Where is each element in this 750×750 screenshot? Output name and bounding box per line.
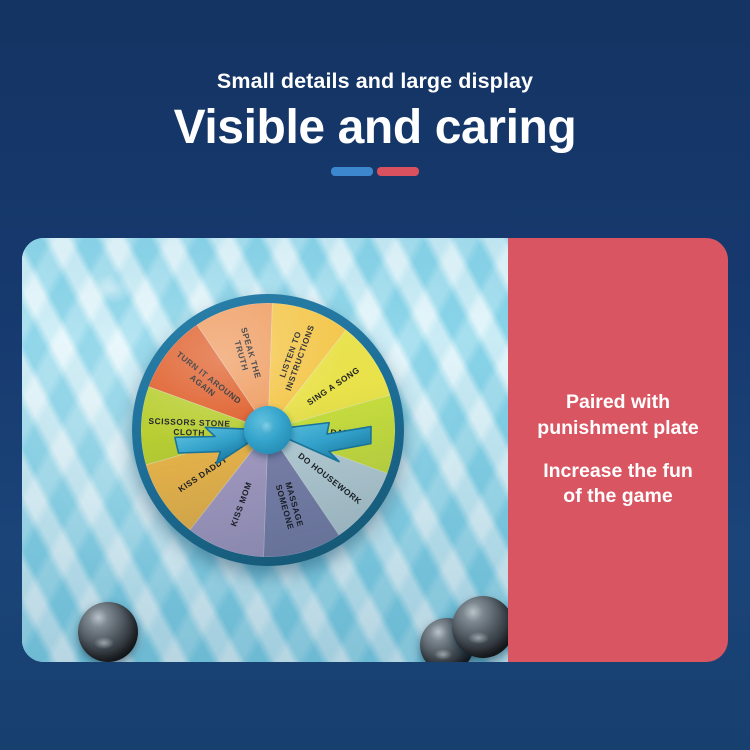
steel-ball-right-front: [452, 596, 508, 658]
feature-panel: Paired with punishment plate Increase th…: [508, 238, 728, 662]
header-title: Visible and caring: [0, 103, 750, 153]
svg-text:CLOTH: CLOTH: [173, 427, 205, 438]
wheel-hub: [244, 406, 292, 454]
header-block: Small details and large display Visible …: [0, 0, 750, 176]
product-card: SCISSORS STONECLOTHTURN IT AROUNDAGAINSP…: [22, 238, 728, 662]
product-photo: SCISSORS STONECLOTHTURN IT AROUNDAGAINSP…: [22, 238, 508, 662]
header-subtitle: Small details and large display: [0, 70, 750, 94]
header-divider: [0, 167, 750, 176]
promo-banner: Small details and large display Visible …: [0, 0, 750, 750]
rule-bar-red: [377, 167, 419, 176]
panel-text-line-2: punishment plate: [525, 416, 710, 442]
svg-text:DANCE: DANCE: [330, 427, 363, 438]
spinner-wheel[interactable]: SCISSORS STONECLOTHTURN IT AROUNDAGAINSP…: [132, 294, 404, 566]
wheel-segment-label: DANCE: [330, 427, 363, 438]
panel-text-line-4: of the game: [551, 484, 684, 510]
panel-text-line-1: Paired with: [554, 390, 682, 416]
steel-ball-left: [78, 602, 138, 662]
panel-text-line-3: Increase the fun: [531, 459, 705, 485]
rule-bar-blue: [331, 167, 373, 176]
